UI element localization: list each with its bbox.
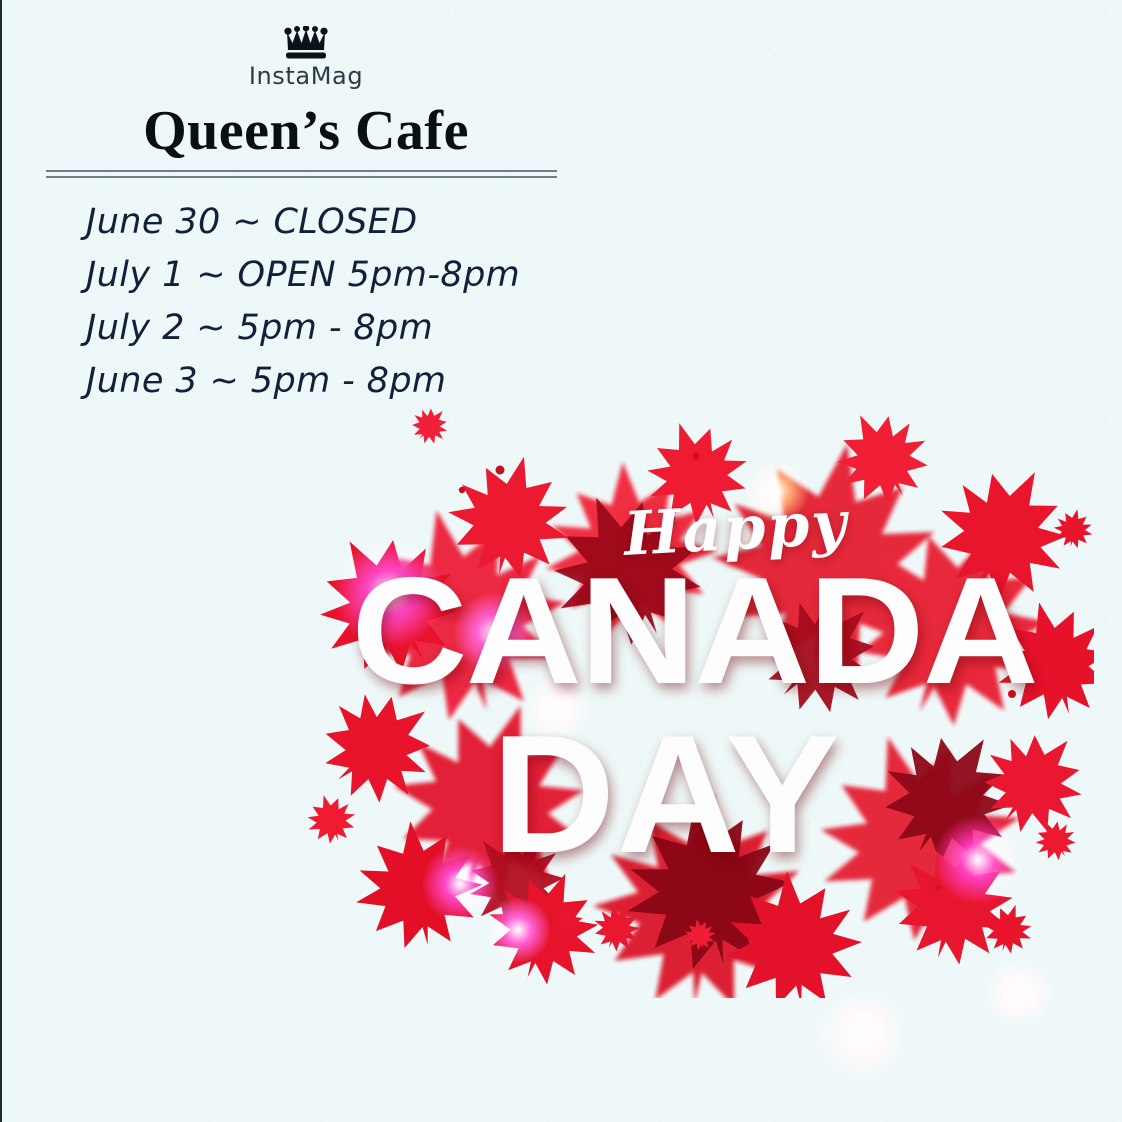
poster-canvas: InstaMag Queen’s Cafe June 30 ~ CLOSED J…: [0, 0, 1122, 1122]
list-item: July 1 ~ OPEN 5pm-8pm: [86, 249, 726, 302]
list-item: July 2 ~ 5pm - 8pm: [86, 302, 726, 355]
maple-leaf-cluster: [294, 398, 1094, 998]
list-item: June 30 ~ CLOSED: [86, 196, 726, 249]
canada-day-artwork: Happy CANADA DAY: [294, 398, 1094, 998]
hours-list: June 30 ~ CLOSED July 1 ~ OPEN 5pm-8pm J…: [86, 196, 726, 408]
crown-icon: [283, 26, 329, 60]
divider-rule-bottom: [46, 176, 557, 178]
divider-rule-top: [46, 170, 557, 172]
title-divider: [46, 170, 557, 178]
instamag-label: InstaMag: [2, 62, 610, 90]
instamag-watermark: InstaMag: [2, 26, 610, 90]
title-block: Queen’s Cafe: [46, 103, 566, 178]
page-title: Queen’s Cafe: [46, 103, 566, 160]
sparkle-flare: [814, 986, 910, 1082]
